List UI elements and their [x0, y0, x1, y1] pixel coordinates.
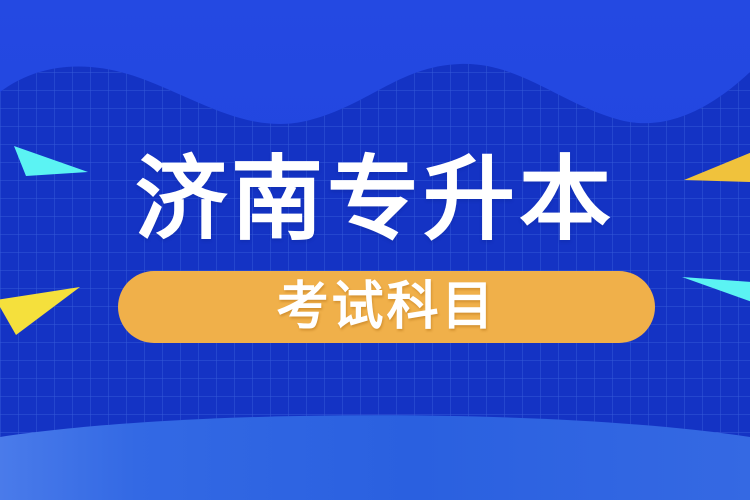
poster-banner: 济南专升本 考试科目: [0, 0, 750, 500]
status-badge: 考试科目: [118, 271, 655, 343]
cyan-triangle-mid-right-icon: [682, 277, 750, 302]
status-badge-label: 考试科目: [276, 279, 496, 335]
page-title: 济南专升本: [0, 148, 750, 252]
yellow-triangle-mid-left-icon: [0, 287, 80, 335]
